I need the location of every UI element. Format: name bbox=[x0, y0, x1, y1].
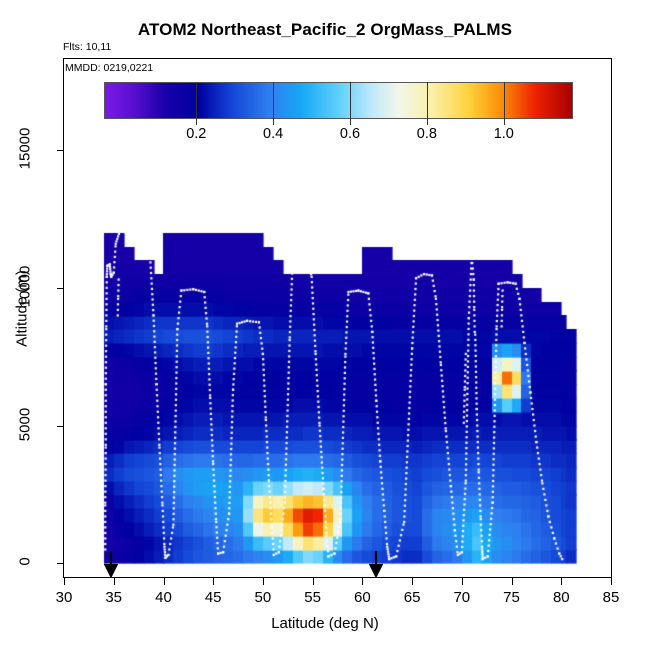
x-axis-tick bbox=[64, 578, 65, 585]
x-axis-label: Latitude (deg N) bbox=[0, 615, 650, 632]
x-axis-tick-label: 65 bbox=[392, 589, 432, 606]
plot-frame bbox=[63, 58, 612, 578]
x-axis-tick-label: 55 bbox=[293, 589, 333, 606]
x-axis-tick bbox=[164, 578, 165, 585]
x-axis-tick-label: 45 bbox=[193, 589, 233, 606]
x-axis-tick bbox=[561, 578, 562, 585]
x-axis-tick bbox=[213, 578, 214, 585]
x-axis-tick bbox=[512, 578, 513, 585]
x-axis-tick-label: 75 bbox=[492, 589, 532, 606]
y-axis-tick bbox=[57, 288, 64, 289]
y-axis-tick bbox=[57, 150, 64, 151]
mmdd-label: MMDD: 0219,0221 bbox=[65, 62, 153, 74]
x-axis-tick bbox=[114, 578, 115, 585]
plot-canvas-root: ATOM2 Northeast_Pacific_2 OrgMass_PALMS … bbox=[0, 0, 650, 650]
x-axis-tick bbox=[263, 578, 264, 585]
y-axis-label: Altitude (m) bbox=[14, 239, 31, 379]
x-axis-tick-label: 40 bbox=[144, 589, 184, 606]
x-axis-tick bbox=[462, 578, 463, 585]
flights-label: Flts: 10,11 bbox=[63, 41, 111, 53]
x-axis-tick bbox=[412, 578, 413, 585]
x-axis-tick-label: 80 bbox=[541, 589, 581, 606]
y-axis-tick-label: 0 bbox=[17, 537, 34, 587]
latitude-marker-arrow bbox=[369, 551, 383, 577]
y-axis-tick bbox=[57, 426, 64, 427]
x-axis-tick-label: 60 bbox=[342, 589, 382, 606]
x-axis-tick bbox=[362, 578, 363, 585]
x-axis-tick-label: 30 bbox=[44, 589, 84, 606]
x-axis-tick-label: 50 bbox=[243, 589, 283, 606]
page-title: ATOM2 Northeast_Pacific_2 OrgMass_PALMS bbox=[0, 20, 650, 40]
x-axis-tick bbox=[313, 578, 314, 585]
x-axis-tick-label: 70 bbox=[442, 589, 482, 606]
x-axis-tick-label: 85 bbox=[591, 589, 631, 606]
x-axis-tick-label: 35 bbox=[94, 589, 134, 606]
latitude-marker-arrow bbox=[104, 551, 118, 577]
y-axis-tick bbox=[57, 563, 64, 564]
y-axis-tick-label: 15000 bbox=[17, 124, 34, 174]
x-axis-tick bbox=[611, 578, 612, 585]
y-axis-tick-label: 5000 bbox=[17, 399, 34, 449]
